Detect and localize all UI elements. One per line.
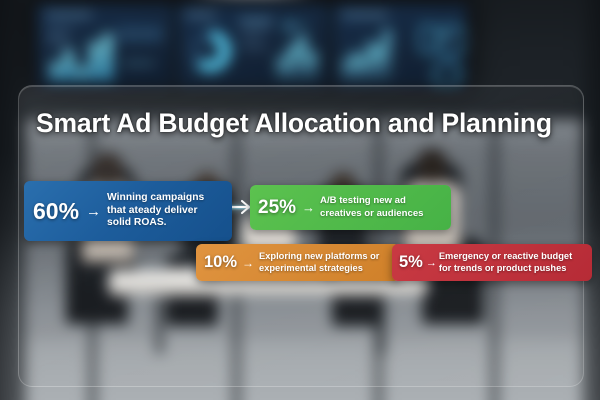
screen-text-line	[47, 42, 71, 45]
allocation-card-testing[interactable]: 25% → A/B testing new ad creatives or au…	[250, 185, 451, 230]
screen-text-line	[47, 35, 67, 38]
allocation-description: Exploring new platforms or experimental …	[259, 251, 392, 274]
arrow-right-icon: →	[302, 200, 315, 215]
screen-gauge	[433, 60, 461, 87]
screen-text-line	[123, 62, 155, 65]
allocation-card-primary[interactable]: 60% → Winning campaigns that ateady deli…	[24, 181, 232, 241]
screen-bar	[103, 34, 112, 80]
allocation-card-exploration[interactable]: 10% → Exploring new platforms or experim…	[196, 244, 400, 281]
screen-widget	[239, 18, 273, 23]
screen-title-bar	[46, 13, 92, 17]
screen-area-step	[359, 56, 367, 80]
allocation-description: Emergency or reactive budget for trends …	[439, 251, 585, 274]
screen-text-line	[47, 28, 73, 31]
allocation-description: Winning campaigns that ateady deliver so…	[107, 192, 223, 231]
allocation-card-reserve[interactable]: 5% → Emergency or reactive budget for tr…	[392, 244, 592, 281]
arrow-right-icon: →	[242, 256, 254, 270]
allocation-description: A/B testing new ad creatives or audience…	[320, 195, 443, 219]
allocation-percent: 25%	[258, 197, 296, 219]
screen-indicator-dot	[285, 22, 294, 31]
screen-area-step	[287, 46, 297, 80]
page-title: Smart Ad Budget Allocation and Planning	[36, 108, 576, 139]
infographic-canvas: Smart Ad Budget Allocation and Planning …	[0, 0, 600, 400]
screen-area-step	[383, 30, 391, 80]
dashboard-screen-left	[38, 5, 172, 87]
dashboard-screen-center	[178, 5, 328, 87]
screen-bar	[90, 42, 99, 80]
screen-indicator-dot	[444, 33, 452, 41]
screen-area-step	[343, 60, 351, 80]
screen-bar	[77, 66, 86, 80]
screen-widget	[117, 26, 163, 42]
allocation-percent: 60%	[33, 198, 79, 225]
screen-area-step	[307, 52, 317, 80]
wall-pillar-right	[582, 0, 600, 400]
screen-donut-chart	[189, 30, 231, 72]
screen-area-step	[375, 46, 383, 80]
screen-bar	[51, 62, 60, 80]
screen-text-line	[241, 36, 263, 39]
arrow-right-icon: →	[86, 203, 101, 220]
screen-text-line	[241, 46, 267, 49]
screen-indicator-dot	[299, 22, 306, 29]
screen-text-line	[241, 26, 271, 29]
arrow-right-icon: →	[426, 257, 437, 269]
dashboard-screen-right	[334, 5, 466, 87]
screen-area-step	[297, 36, 307, 80]
screen-area-step	[351, 52, 359, 80]
screen-bar	[64, 50, 73, 80]
allocation-percent: 5%	[399, 253, 423, 272]
screen-title-bar	[186, 13, 216, 17]
allocation-percent: 10%	[204, 253, 237, 272]
screen-area-step	[367, 42, 375, 80]
screen-area-step	[277, 58, 287, 80]
screen-title-bar	[342, 13, 388, 17]
